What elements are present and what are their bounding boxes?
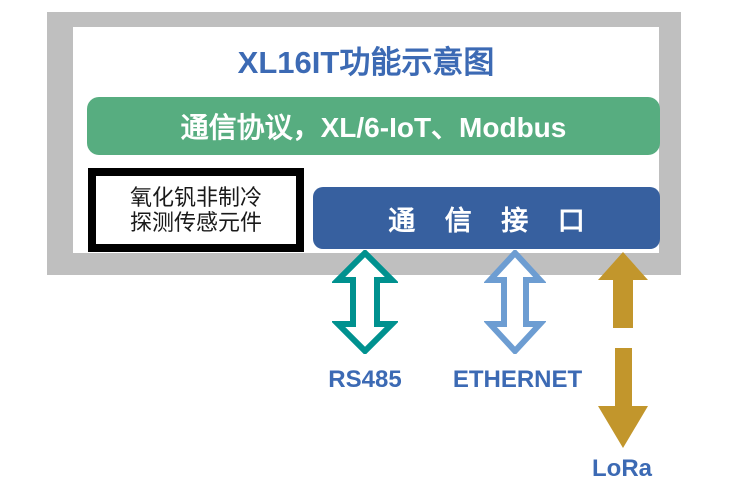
channel-label-lora: LoRa xyxy=(562,455,682,483)
channel-label-ethernet: ETHERNET xyxy=(435,366,600,394)
diagram-canvas: XL16IT功能示意图 通信协议，XL/6-IoT、Modbus 氧化钒非制冷 … xyxy=(0,0,750,500)
protocol-banner-label: 通信协议，XL/6-IoT、Modbus xyxy=(181,106,567,146)
sensor-box-line-1: 氧化钒非制冷 xyxy=(130,185,262,210)
ethernet-double-arrow-icon xyxy=(484,250,546,354)
sensor-element-box: 氧化钒非制冷 探测传感元件 xyxy=(88,168,304,252)
page-title: XL16IT功能示意图 xyxy=(73,37,659,82)
communication-interface-label: 通 信 接 口 xyxy=(377,199,596,238)
lora-down-arrow-icon xyxy=(596,348,650,450)
lora-up-arrow-icon xyxy=(596,252,650,328)
protocol-banner: 通信协议，XL/6-IoT、Modbus xyxy=(87,97,660,155)
channel-label-rs485: RS485 xyxy=(305,366,425,394)
sensor-box-line-2: 探测传感元件 xyxy=(130,210,262,235)
rs485-double-arrow-icon xyxy=(332,250,398,354)
communication-interface-box: 通 信 接 口 xyxy=(313,187,660,249)
